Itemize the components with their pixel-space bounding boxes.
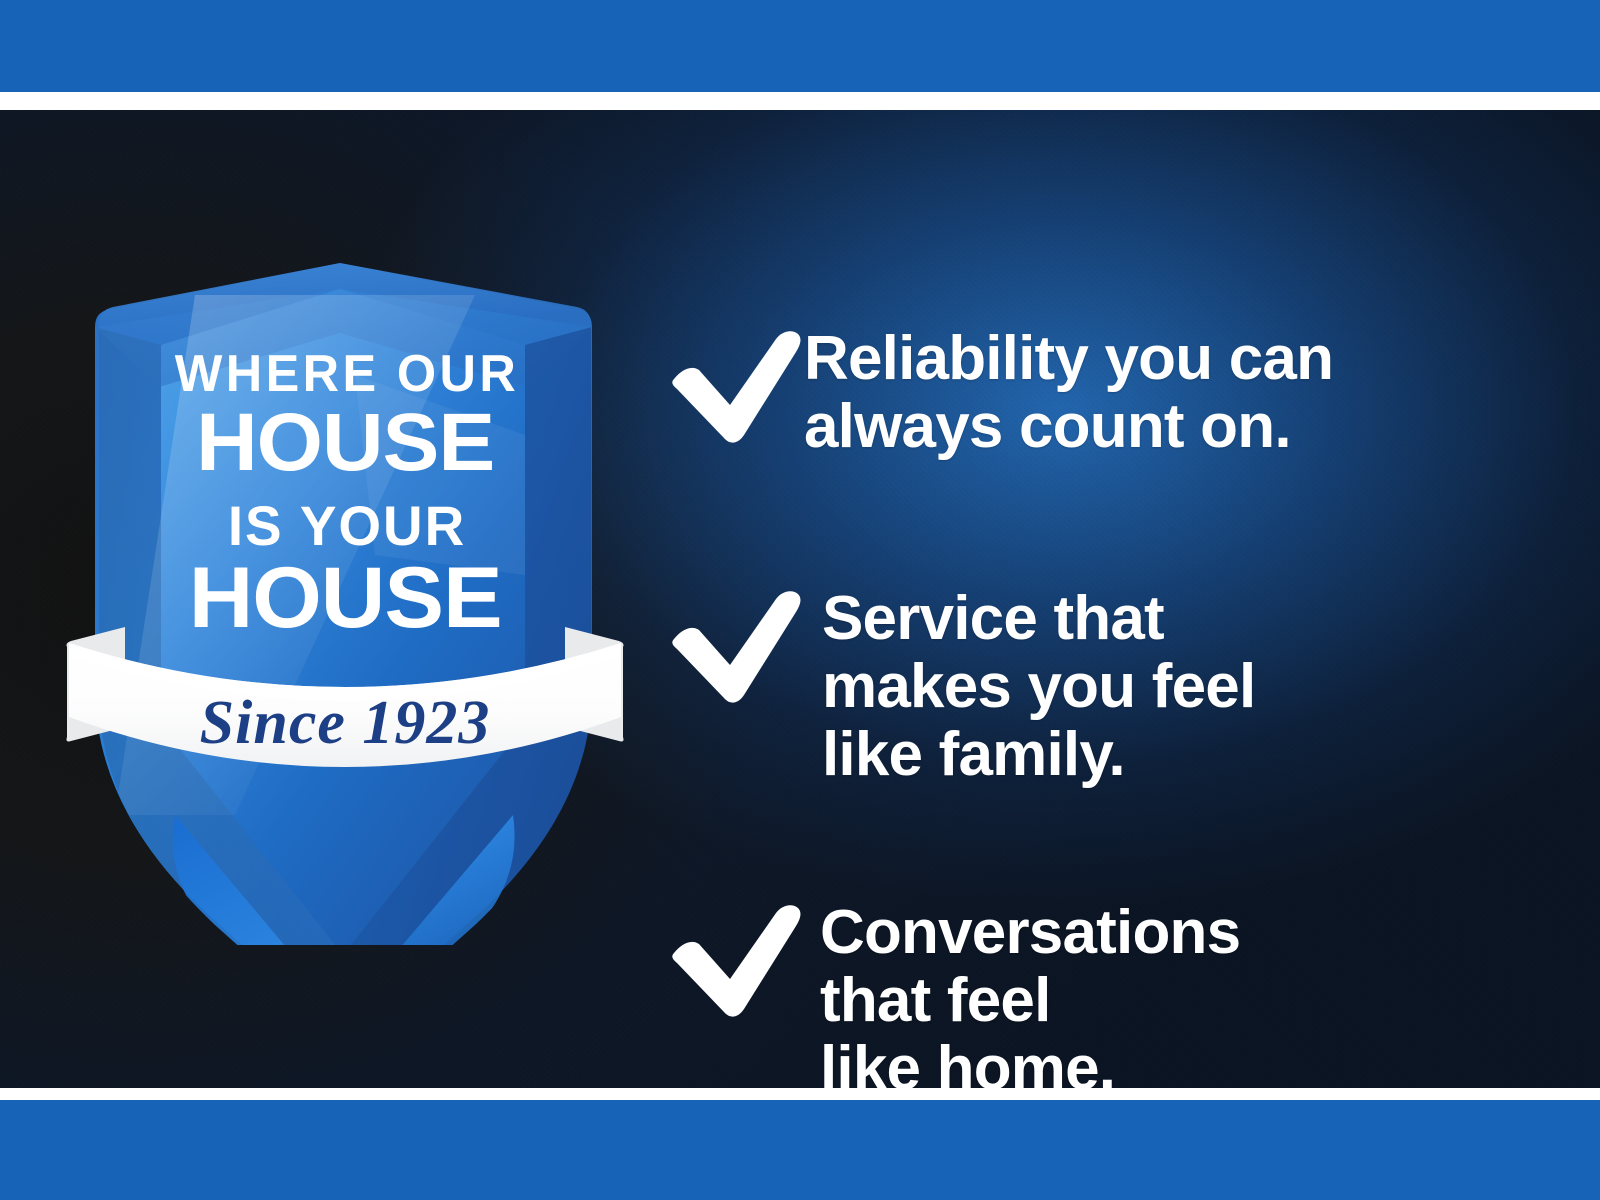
bottom-white-divider	[0, 1088, 1600, 1100]
shield-line-2: HOUSE	[196, 396, 494, 488]
list-item: Reliability you can always count on.	[668, 323, 1548, 461]
check-icon	[668, 587, 804, 705]
benefits-list: Reliability you can always count on. Ser…	[668, 235, 1548, 1088]
shield-line-3: IS YOUR	[228, 494, 466, 557]
top-white-divider	[0, 92, 1600, 110]
list-item: Conversations that feel like home.	[668, 897, 1548, 1088]
list-item: Service that makes you feel like family.	[668, 583, 1548, 790]
shield-line-1: WHERE OUR	[175, 344, 519, 402]
top-brand-bar	[0, 0, 1600, 92]
shield-line-4: HOUSE	[189, 550, 502, 646]
since-banner-text: Since 1923	[200, 689, 491, 757]
shield-logo: WHERE OUR HOUSE IS YOUR HOUSE Since 1923	[55, 255, 635, 945]
main-stage: WHERE OUR HOUSE IS YOUR HOUSE Since 1923	[0, 110, 1600, 1088]
bottom-brand-bar	[0, 1100, 1600, 1200]
benefit-text: Conversations that feel like home.	[804, 897, 1548, 1088]
check-icon	[668, 901, 804, 1019]
benefit-text: Service that makes you feel like family.	[804, 583, 1548, 790]
benefit-text: Reliability you can always count on.	[804, 323, 1548, 461]
check-icon	[668, 327, 804, 445]
promo-graphic: WHERE OUR HOUSE IS YOUR HOUSE Since 1923	[0, 0, 1600, 1200]
